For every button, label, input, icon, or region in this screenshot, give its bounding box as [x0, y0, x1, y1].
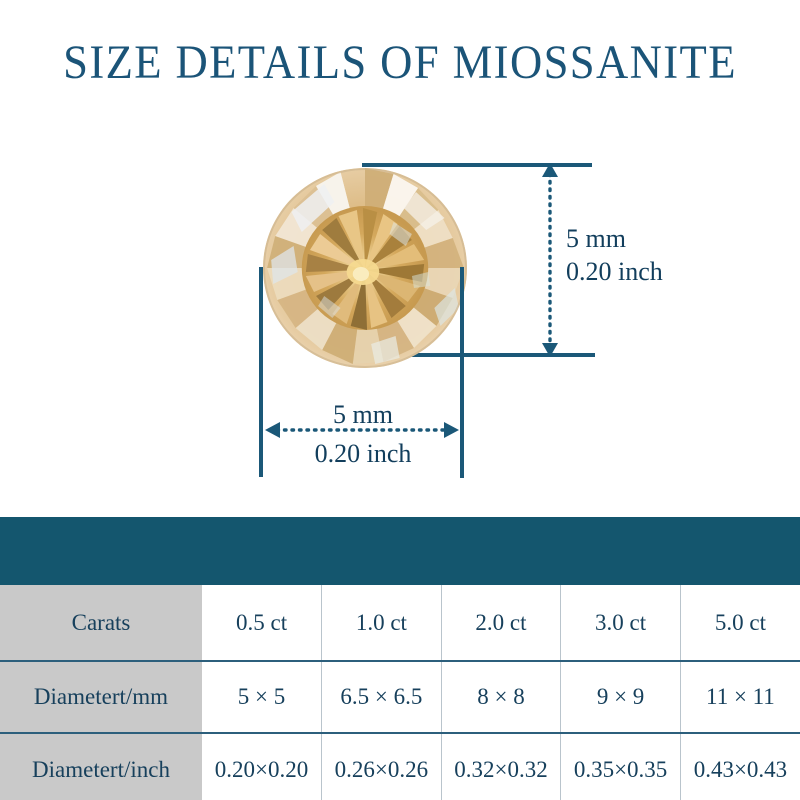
- cell-mm-2: 6.5 × 6.5: [322, 661, 442, 733]
- cell-inch-4: 0.35×0.35: [561, 733, 681, 800]
- size-table: Carats 0.5 ct 1.0 ct 2.0 ct 3.0 ct 5.0 c…: [0, 585, 800, 800]
- vertical-dimension-arrow: [538, 160, 562, 360]
- height-dimension-label: 5 mm 0.20 inch: [566, 222, 663, 289]
- cell-carats-5: 5.0 ct: [680, 585, 800, 661]
- cell-mm-4: 9 × 9: [561, 661, 681, 733]
- cell-carats-3: 2.0 ct: [441, 585, 561, 661]
- table-row: Diametert/inch 0.20×0.20 0.26×0.26 0.32×…: [0, 733, 800, 800]
- cell-inch-2: 0.26×0.26: [322, 733, 442, 800]
- size-details-infographic: SIZE DETAILS OF MIOSSANITE: [0, 0, 800, 800]
- cell-inch-1: 0.20×0.20: [202, 733, 322, 800]
- cell-mm-3: 8 × 8: [441, 661, 561, 733]
- cell-mm-1: 5 × 5: [202, 661, 322, 733]
- size-table-section: Carats 0.5 ct 1.0 ct 2.0 ct 3.0 ct 5.0 c…: [0, 517, 800, 800]
- gem-dimension-diagram: 5 mm 0.20 inch 5 mm 0.20 inch: [0, 0, 800, 515]
- cell-inch-5: 0.43×0.43: [680, 733, 800, 800]
- height-inch-value: 0.20 inch: [566, 255, 663, 288]
- cell-carats-4: 3.0 ct: [561, 585, 681, 661]
- table-row: Carats 0.5 ct 1.0 ct 2.0 ct 3.0 ct 5.0 c…: [0, 585, 800, 661]
- gemstone-image: [263, 168, 467, 368]
- width-inch-value: 0.20 inch: [258, 437, 468, 470]
- row-header-diameter-inch: Diametert/inch: [0, 733, 202, 800]
- cell-mm-5: 11 × 11: [680, 661, 800, 733]
- cell-carats-1: 0.5 ct: [202, 585, 322, 661]
- row-header-carats: Carats: [0, 585, 202, 661]
- row-header-diameter-mm: Diametert/mm: [0, 661, 202, 733]
- cell-carats-2: 1.0 ct: [322, 585, 442, 661]
- table-row: Diametert/mm 5 × 5 6.5 × 6.5 8 × 8 9 × 9…: [0, 661, 800, 733]
- cell-inch-3: 0.32×0.32: [441, 733, 561, 800]
- table-header-band: [0, 517, 800, 585]
- height-mm-value: 5 mm: [566, 222, 663, 255]
- gemstone-circle: [263, 168, 467, 368]
- width-mm-value: 5 mm: [263, 398, 463, 431]
